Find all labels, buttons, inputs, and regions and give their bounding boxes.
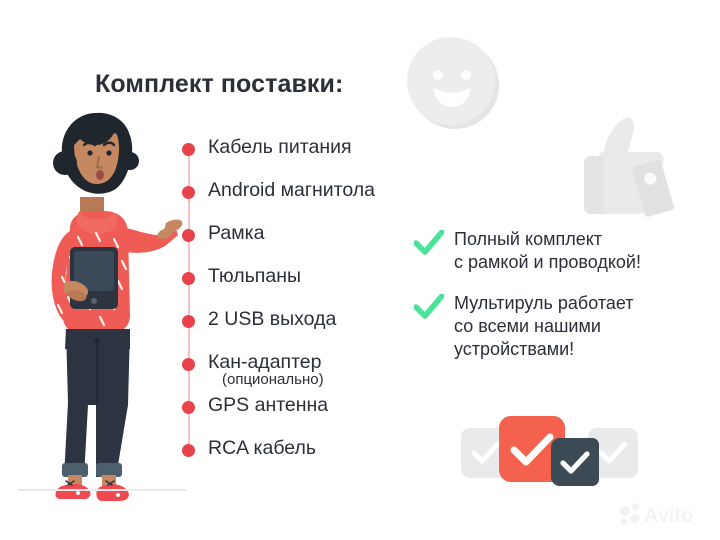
bullet-dot (182, 358, 195, 371)
benefit-item: Полный комплект с рамкой и проводкой! (410, 228, 700, 274)
check-icon (510, 433, 554, 467)
page-title: Комплект поставки: (95, 70, 343, 99)
bullet-dot (182, 401, 195, 414)
check-icon (471, 440, 501, 466)
benefit-text: Полный комплект с рамкой и проводкой! (454, 228, 700, 274)
watermark-text: Avito (644, 505, 693, 527)
checkbox-cards-decoration (455, 412, 645, 492)
list-item-label: Кабель питания (208, 135, 352, 159)
list-item-sublabel: (опционально) (222, 371, 324, 389)
bullet-dot (182, 229, 195, 242)
bullet-dot (182, 186, 195, 199)
green-check-icon (414, 294, 444, 320)
list-item-label: Android магнитола (208, 178, 375, 202)
green-check-icon (414, 230, 444, 256)
check-icon (598, 440, 628, 466)
benefit-text: Мультируль работает со всеми нашими устр… (454, 292, 700, 361)
list-item-label: Рамка (208, 221, 264, 245)
avito-watermark: Avito (618, 500, 714, 528)
bullet-dot (182, 143, 195, 156)
checkbox-card-navy (551, 438, 599, 486)
list-item-label: Тюльпаны (208, 264, 301, 288)
bullet-dot (182, 444, 195, 457)
package-contents-list: Кабель питания Android магнитола Рамка Т… (180, 130, 430, 460)
bullet-dot (182, 272, 195, 285)
bullet-dot (182, 315, 195, 328)
slide-canvas: Комплект поставки: (0, 0, 720, 540)
thumbs-up-icon (570, 112, 682, 220)
list-item-label: RCA кабель (208, 436, 316, 460)
smiley-face-icon (403, 33, 503, 133)
benefit-item: Мультируль работает со всеми нашими устр… (410, 292, 700, 361)
woman-pointing-illustration (18, 105, 183, 505)
check-icon (560, 451, 590, 475)
ground-line (18, 489, 186, 491)
benefits-list: Полный комплект с рамкой и проводкой! Му… (410, 228, 700, 373)
list-item-label: GPS антенна (208, 393, 328, 417)
list-item-label: 2 USB выхода (208, 307, 336, 331)
